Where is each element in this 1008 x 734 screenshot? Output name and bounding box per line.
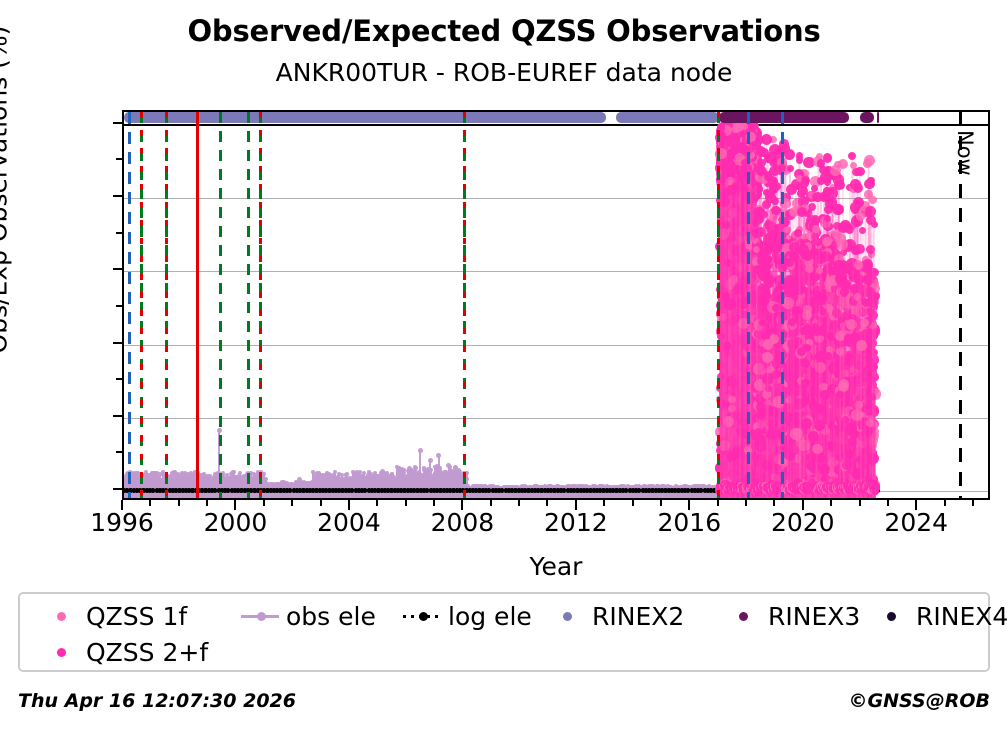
data-point [730,165,737,172]
data-stem [419,451,421,500]
data-point [418,448,423,453]
data-point [232,470,236,474]
data-point [407,466,412,471]
data-stem [733,169,735,500]
data-point [732,125,740,133]
x-axis-label: Year [122,552,990,581]
y-axis-label: Obs/Exp Observations (%) [0,0,13,390]
data-point [436,453,441,458]
hundred-percent-rule [124,124,988,126]
plot-area: Now [122,110,990,500]
data-stem [262,474,264,500]
chart-page: Observed/Expected QZSS Observations ANKR… [0,0,1008,734]
data-stem [408,468,410,500]
data-point [727,452,736,461]
data-stem [455,468,457,500]
data-point [428,458,433,463]
data-stem [724,169,726,500]
data-stem [721,135,723,500]
page-subtitle: ANKR00TUR - ROB-EUREF data node [0,58,1008,87]
data-stem [381,472,383,500]
data-stem [438,456,440,500]
data-point [357,474,362,479]
page-title: Observed/Expected QZSS Observations [0,14,1008,48]
data-stem [739,158,741,501]
data-stem [727,165,729,500]
data-stem [448,465,450,500]
data-stem [429,460,431,500]
